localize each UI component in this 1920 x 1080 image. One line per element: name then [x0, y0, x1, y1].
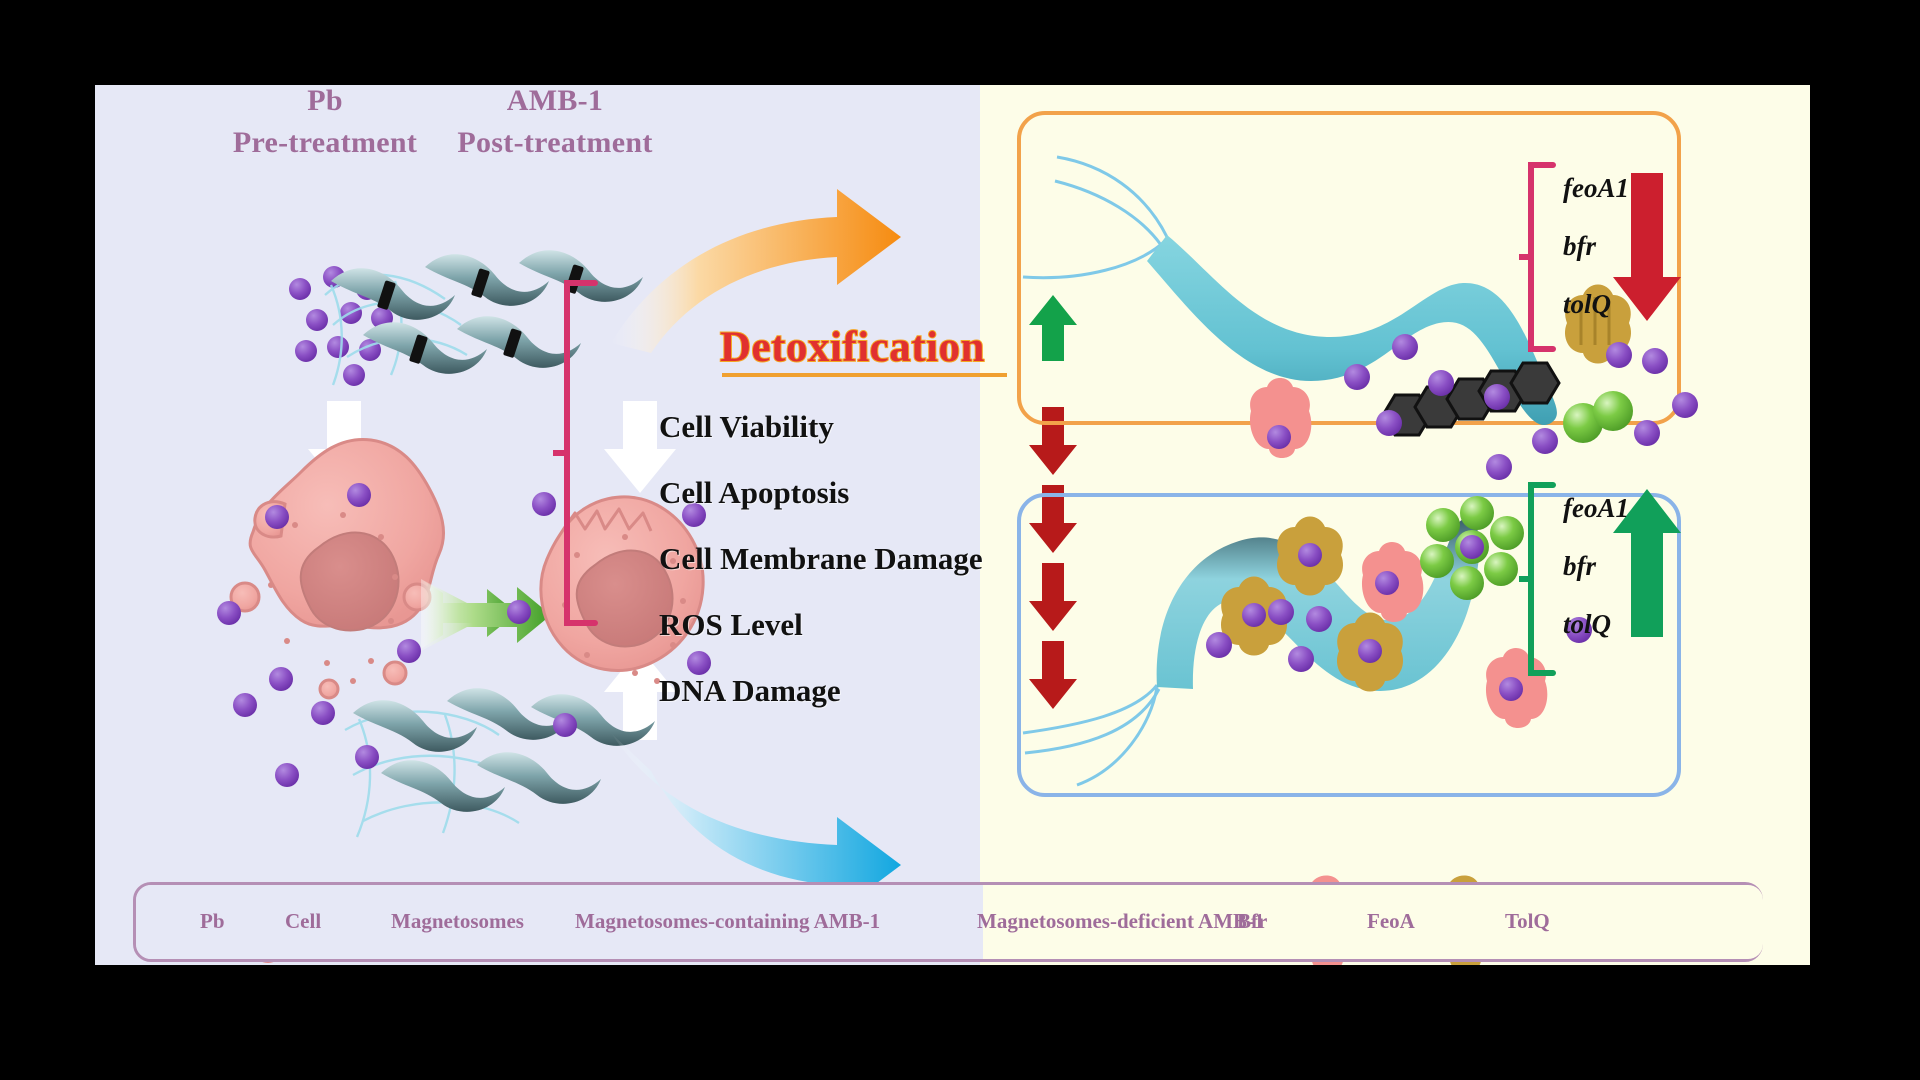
legend-label-cell: Cell: [285, 909, 321, 934]
amb1-cluster-bottom: [345, 688, 655, 837]
effect-label-dna-damage: DNA Damage: [659, 673, 841, 709]
detoxification-underline: [722, 373, 1007, 377]
gene-bracket-top: [1519, 165, 1553, 349]
effect-label-cell-apoptosis: Cell Apoptosis: [659, 475, 849, 511]
treatment-arrow: [421, 579, 551, 651]
magnetosomes-deficient-panel: [1019, 485, 1681, 795]
legend-label-feoa: FeoA: [1367, 909, 1415, 934]
bfr-proteins: [1563, 391, 1633, 443]
gene-bracket-bottom: [1519, 485, 1553, 673]
legend-label-magnetosomes-deficient: Magnetosomes-deficient AMB-1: [977, 909, 1265, 934]
legend-label-tolq: TolQ: [1505, 909, 1550, 934]
figure-canvas: Pb Pre-treatment AMB-1 Post-treatment De…: [0, 0, 1920, 1080]
legend-label-magnetosomes: Magnetosomes: [391, 909, 524, 934]
legend-label-magnetosomes-containing: Magnetosomes-containing AMB-1: [575, 909, 880, 934]
effect-label-ros-level: ROS Level: [659, 607, 803, 643]
gene-bottom-feoA1: feoA1: [1563, 493, 1629, 524]
legend-label-pb: Pb: [200, 909, 225, 934]
effect-label-cell-membrane-damage: Cell Membrane Damage: [659, 541, 983, 577]
gene-top-feoA1: feoA1: [1563, 173, 1629, 204]
feoa-protein: [1486, 648, 1547, 728]
illustration-layer: [95, 85, 1810, 965]
gene-top-bfr: bfr: [1563, 231, 1596, 262]
effect-label-cell-viability: Cell Viability: [659, 409, 834, 445]
graphical-abstract: Pb Pre-treatment AMB-1 Post-treatment De…: [95, 85, 1810, 965]
gene-bottom-bfr: bfr: [1563, 551, 1596, 582]
legend-label-bfr: Bfr: [1237, 909, 1267, 934]
feoa-protein: [1362, 542, 1423, 622]
header-amb1-posttreatment: AMB-1 Post-treatment: [405, 85, 705, 164]
effect-arrows: [1029, 295, 1077, 709]
header-line2: Post-treatment: [405, 122, 705, 164]
detoxification-title: Detoxification: [720, 323, 985, 372]
gene-bottom-tolQ: tolQ: [1563, 609, 1611, 640]
header-line1: AMB-1: [405, 85, 705, 122]
feoa-protein: [1250, 378, 1311, 458]
gene-top-tolQ: tolQ: [1563, 289, 1611, 320]
